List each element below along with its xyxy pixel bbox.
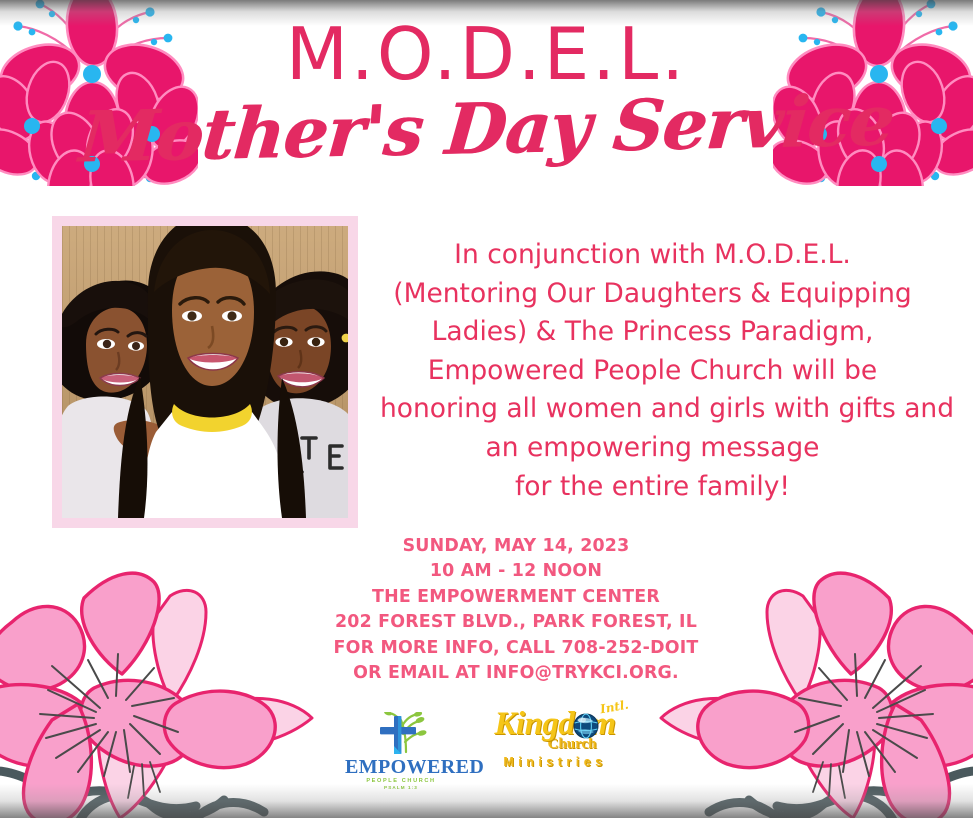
kingdom-ministries-label: Ministries [475,756,635,769]
globe-icon [573,713,599,739]
headline-block: M.O.D.E.L. Mother's Day Service [0,18,973,166]
flyer-canvas: M.O.D.E.L. Mother's Day Service [0,0,973,818]
body-line: honoring all women and girls with gifts … [380,390,925,429]
body-line: (Mentoring Our Daughters & Equipping [380,275,925,314]
event-date: SUNDAY, MAY 14, 2023 [330,534,702,559]
body-line: In conjunction with M.O.D.E.L. [380,236,925,275]
empowered-scripture: PSALM 1:3 [345,785,457,791]
event-time: 10 AM - 12 NOON [330,559,702,584]
body-line: for the entire family! [380,468,925,507]
event-venue: THE EMPOWERMENT CENTER [330,585,702,610]
cross-and-tree-icon [372,712,430,756]
empowered-subtitle: PEOPLE CHURCH [345,777,457,785]
event-email: OR EMAIL AT INFO@TRYKCI.ORG. [330,661,702,686]
event-address: 202 FOREST BLVD., PARK FOREST, IL [330,610,702,635]
kingdom-church-ministries-logo: Intl. Kingdom Church Ministries [475,706,635,769]
empowered-people-church-logo: EMPOWERED PEOPLE CHURCH PSALM 1:3 [345,706,457,792]
body-copy: In conjunction with M.O.D.E.L. (Mentorin… [380,236,925,506]
event-phone: FOR MORE INFO, CALL 708-252-DOIT [330,636,702,661]
event-details: SUNDAY, MAY 14, 2023 10 AM - 12 NOON THE… [330,534,702,686]
lily-bottom-left-icon [0,556,322,818]
photo-frame [52,216,358,528]
body-line: Ladies) & The Princess Paradigm, [380,313,925,352]
body-line: an empowering message [380,429,925,468]
body-line: Empowered People Church will be [380,352,925,391]
photo-subjects-illustration [62,226,348,518]
photo-of-three-women [62,226,348,518]
logo-row: EMPOWERED PEOPLE CHURCH PSALM 1:3 Intl. … [345,706,645,798]
empowered-wordmark: EMPOWERED [345,757,457,777]
subtitle-script: Mother's Day Service [0,82,973,176]
